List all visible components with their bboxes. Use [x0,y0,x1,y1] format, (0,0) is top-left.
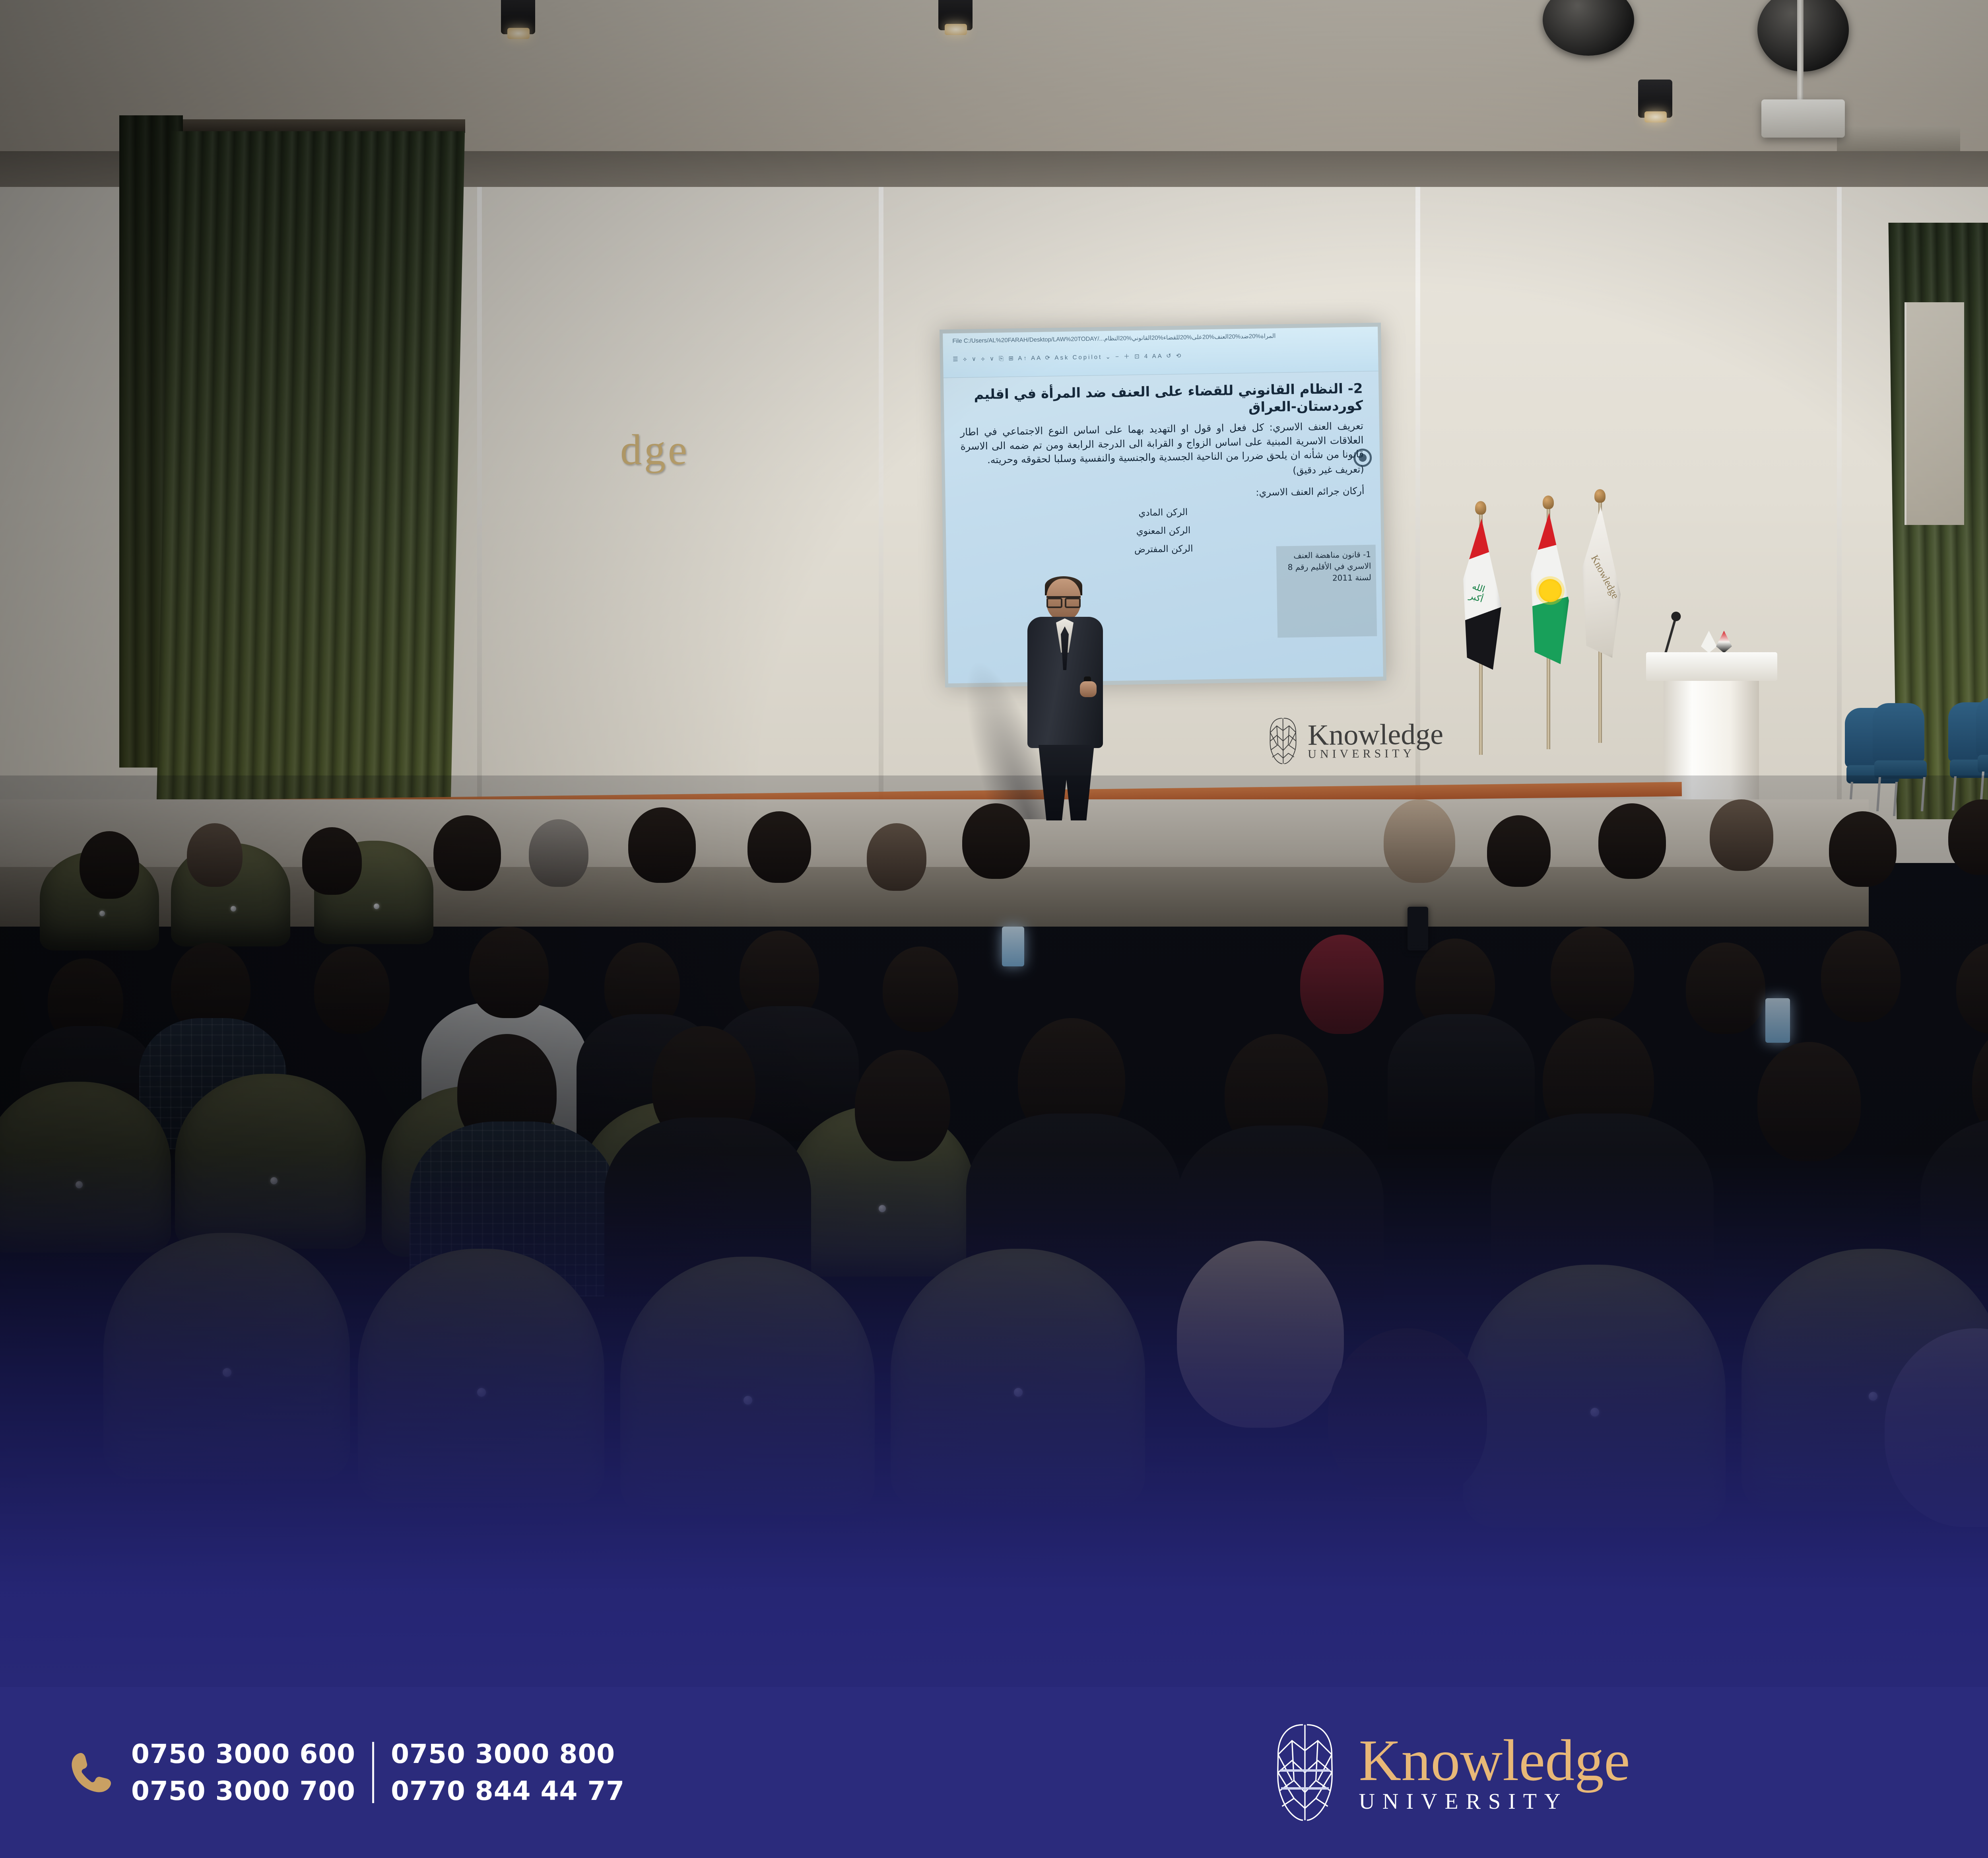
document-toolbar: ☰ ⟡ ∨ ⟡ ∨ ⎘ ⊞ A↑ AA ⟳ Ask Copilot ⌄ − ＋ … [953,348,1370,371]
side-door [1905,302,1964,525]
address-bar: File C:/Users/AL%20FARAH/Desktop/LAW%20T… [952,331,1370,349]
slide-content: 2- النظام القانوني للقضاء على العنف ضد ا… [944,373,1383,683]
projector-mount-pole [1797,0,1804,102]
slide-list-item: الركن المعنوي [962,523,1365,539]
contact-footer-bar: 0750 3000 600 0750 3000 700 0750 3000 80… [0,1687,1988,1858]
phone-number[interactable]: 0770 844 44 77 [391,1776,625,1806]
stage-curtain [155,131,465,859]
browser-chrome: File C:/Users/AL%20FARAH/Desktop/LAW%20T… [943,327,1378,378]
slide-sidebox: 1- قانون مناهضة العنف الاسري في الأقليم … [1276,545,1377,638]
ceiling-access-panel [1837,126,1960,151]
presenter-person [1022,579,1109,821]
footer-logo: Knowledge UNIVERSITY [1267,1721,1630,1824]
phone-column-right: 0750 3000 800 0770 844 44 77 [374,1739,625,1806]
wall-seam [1415,187,1420,807]
projection-screen: File C:/Users/AL%20FARAH/Desktop/LAW%20T… [940,323,1386,687]
wall-signage-letters: dge [620,426,689,475]
footer-brand-text: Knowledge UNIVERSITY [1359,1733,1630,1812]
projected-slide: File C:/Users/AL%20FARAH/Desktop/LAW%20T… [943,327,1383,683]
ceiling-projector [1761,99,1845,138]
stage-spotlight [1638,80,1672,118]
stage-spotlight [938,0,973,30]
bullet-marker-icon [1353,449,1372,467]
phone-column-left: 0750 3000 600 0750 3000 700 [131,1739,372,1806]
flag-kurdistan [1531,519,1565,655]
flag-knowledge-university: Knowledge [1582,513,1617,648]
eyeglasses-icon [1046,596,1081,603]
divider [372,1742,374,1803]
stage-logo-sign: Knowledge UNIVERSITY [1266,715,1444,766]
slide-paragraph: تعريف العنف الاسري: كل فعل او قول او الت… [960,419,1364,467]
brain-network-icon [1267,1721,1343,1824]
audience [0,827,1988,1623]
auditorium-photo: dge File C:/Users/AL%20FARAH/Desktop/LAW… [0,0,1988,1858]
stage-logo-name: Knowledge [1308,721,1444,749]
phone-number[interactable]: 0750 3000 600 [131,1739,355,1769]
brand-subtitle: UNIVERSITY [1359,1791,1630,1812]
stage-spotlight [501,0,535,34]
wall-seam [1837,187,1842,807]
slide-list-item: الركن المادي [961,504,1365,521]
slide-heading: 2- النظام القانوني للقضاء على العنف ضد ا… [959,380,1363,420]
wall-seam [477,187,482,807]
slide-subheading: أركان جرائم العنف الاسري: [961,485,1364,503]
phone-number[interactable]: 0750 3000 800 [391,1739,625,1769]
phone-number-columns: 0750 3000 600 0750 3000 700 0750 3000 80… [131,1739,625,1806]
flag-iraq: الله أكبر [1463,525,1497,660]
brand-name: Knowledge [1359,1733,1630,1789]
wall-seam [879,187,883,807]
screenshot-canvas: dge File C:/Users/AL%20FARAH/Desktop/LAW… [0,0,1988,1858]
footer-contact-block: 0750 3000 600 0750 3000 700 0750 3000 80… [68,1739,625,1806]
phone-handset-icon [68,1749,115,1796]
phone-number[interactable]: 0750 3000 700 [131,1776,355,1806]
brain-network-icon [1266,716,1300,766]
